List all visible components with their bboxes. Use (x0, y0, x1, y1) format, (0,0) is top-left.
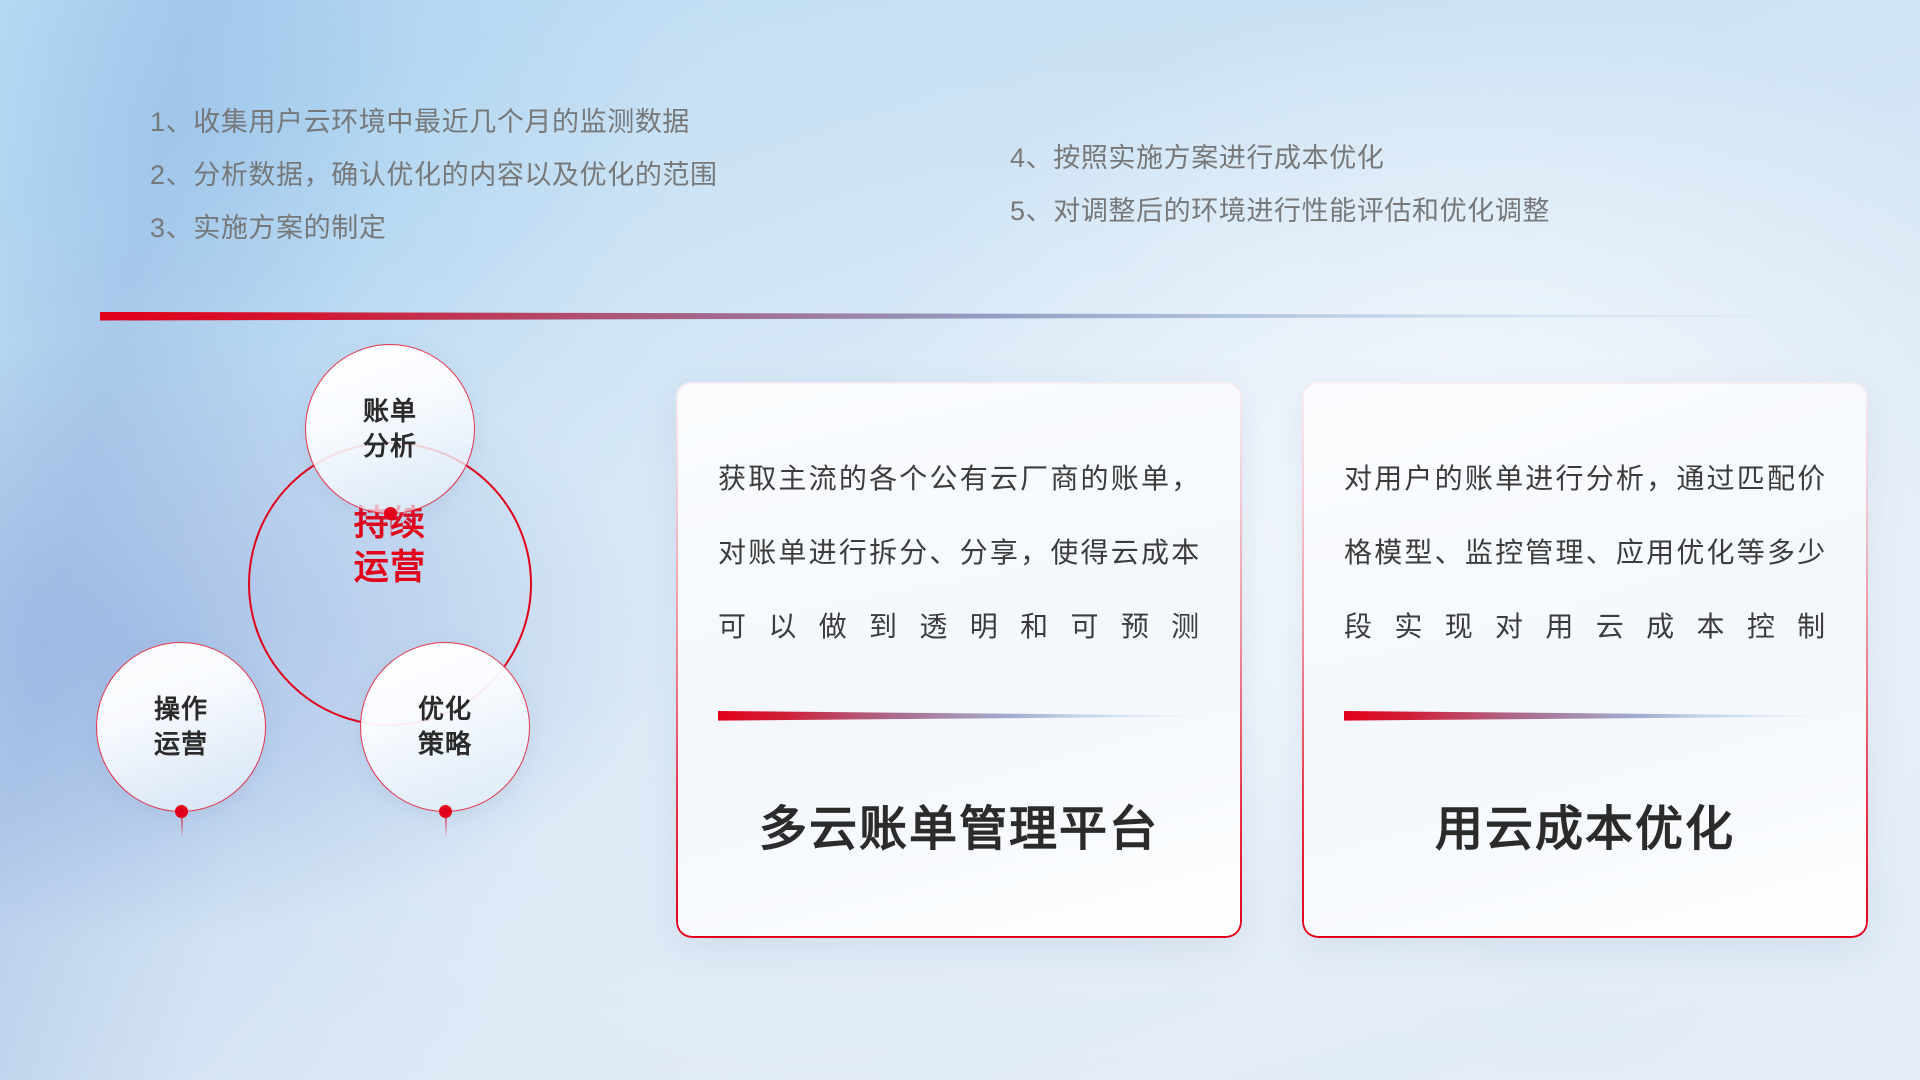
feature-card-multi-cloud-billing-platform[interactable]: 获取主流的各个公有云厂商的账单，对账单进行拆分、分享，使得云成本可以做到透明和可… (676, 382, 1242, 938)
step-item-5: 5、对调整后的环境进行性能评估和优化调整 (1010, 185, 1810, 238)
diagram-node-dot-bottom-left (175, 805, 188, 818)
diagram-center-label-line-2: 运营 (248, 546, 532, 590)
bubble-label-line-1: 优化 (418, 692, 472, 727)
feature-card-divider (718, 708, 1198, 726)
diagram-bubble-operation-ops[interactable]: 操作 运营 (96, 642, 266, 812)
feature-card-body: 获取主流的各个公有云厂商的账单，对账单进行拆分、分享，使得云成本可以做到透明和可… (718, 442, 1200, 672)
diagram-bubble-label: 操作 运营 (154, 692, 208, 762)
diagram-node-dot-top (384, 507, 397, 520)
bubble-label-line-1: 操作 (154, 692, 208, 727)
diagram-bubble-bill-analysis[interactable]: 账单 分析 (305, 344, 475, 514)
continuous-operation-diagram: 持续 运营 账单 分析 操作 运营 优化 策略 (88, 352, 648, 932)
steps-column-left: 1、收集用户云环境中最近几个月的监测数据 2、分析数据，确认优化的内容以及优化的… (150, 96, 1010, 255)
bubble-label-line-2: 策略 (418, 727, 472, 762)
feature-card-title: 多云账单管理平台 (718, 789, 1200, 859)
feature-card-cloud-cost-optimization[interactable]: 对用户的账单进行分析，通过匹配价格模型、监控管理、应用优化等多少段实现对用云成本… (1302, 382, 1868, 938)
steps-list: 1、收集用户云环境中最近几个月的监测数据 2、分析数据，确认优化的内容以及优化的… (150, 96, 1850, 255)
bubble-label-line-1: 账单 (363, 394, 417, 429)
diagram-bubble-label: 优化 策略 (418, 692, 472, 762)
feature-card-title: 用云成本优化 (1344, 789, 1826, 859)
diagram-node-tail-bottom-left (181, 816, 183, 838)
main-divider (100, 306, 1828, 326)
step-item-2: 2、分析数据，确认优化的内容以及优化的范围 (150, 149, 1010, 202)
bubble-label-line-2: 运营 (154, 727, 208, 762)
step-item-3: 3、实施方案的制定 (150, 202, 1010, 255)
step-item-1: 1、收集用户云环境中最近几个月的监测数据 (150, 96, 1010, 149)
step-item-4: 4、按照实施方案进行成本优化 (1010, 132, 1810, 185)
diagram-node-tail-bottom-right (445, 816, 447, 838)
bubble-label-line-2: 分析 (363, 429, 417, 464)
diagram-bubble-optimization-policy[interactable]: 优化 策略 (360, 642, 530, 812)
diagram-bubble-label: 账单 分析 (363, 394, 417, 464)
feature-card-body: 对用户的账单进行分析，通过匹配价格模型、监控管理、应用优化等多少段实现对用云成本… (1344, 442, 1826, 672)
feature-card-divider (1344, 708, 1824, 726)
diagram-node-tail-top (390, 518, 392, 540)
slide-canvas: 1、收集用户云环境中最近几个月的监测数据 2、分析数据，确认优化的内容以及优化的… (0, 0, 1920, 1080)
feature-cards: 获取主流的各个公有云厂商的账单，对账单进行拆分、分享，使得云成本可以做到透明和可… (676, 382, 1868, 938)
diagram-node-dot-bottom-right (439, 805, 452, 818)
steps-column-right: 4、按照实施方案进行成本优化 5、对调整后的环境进行性能评估和优化调整 (1010, 96, 1810, 255)
